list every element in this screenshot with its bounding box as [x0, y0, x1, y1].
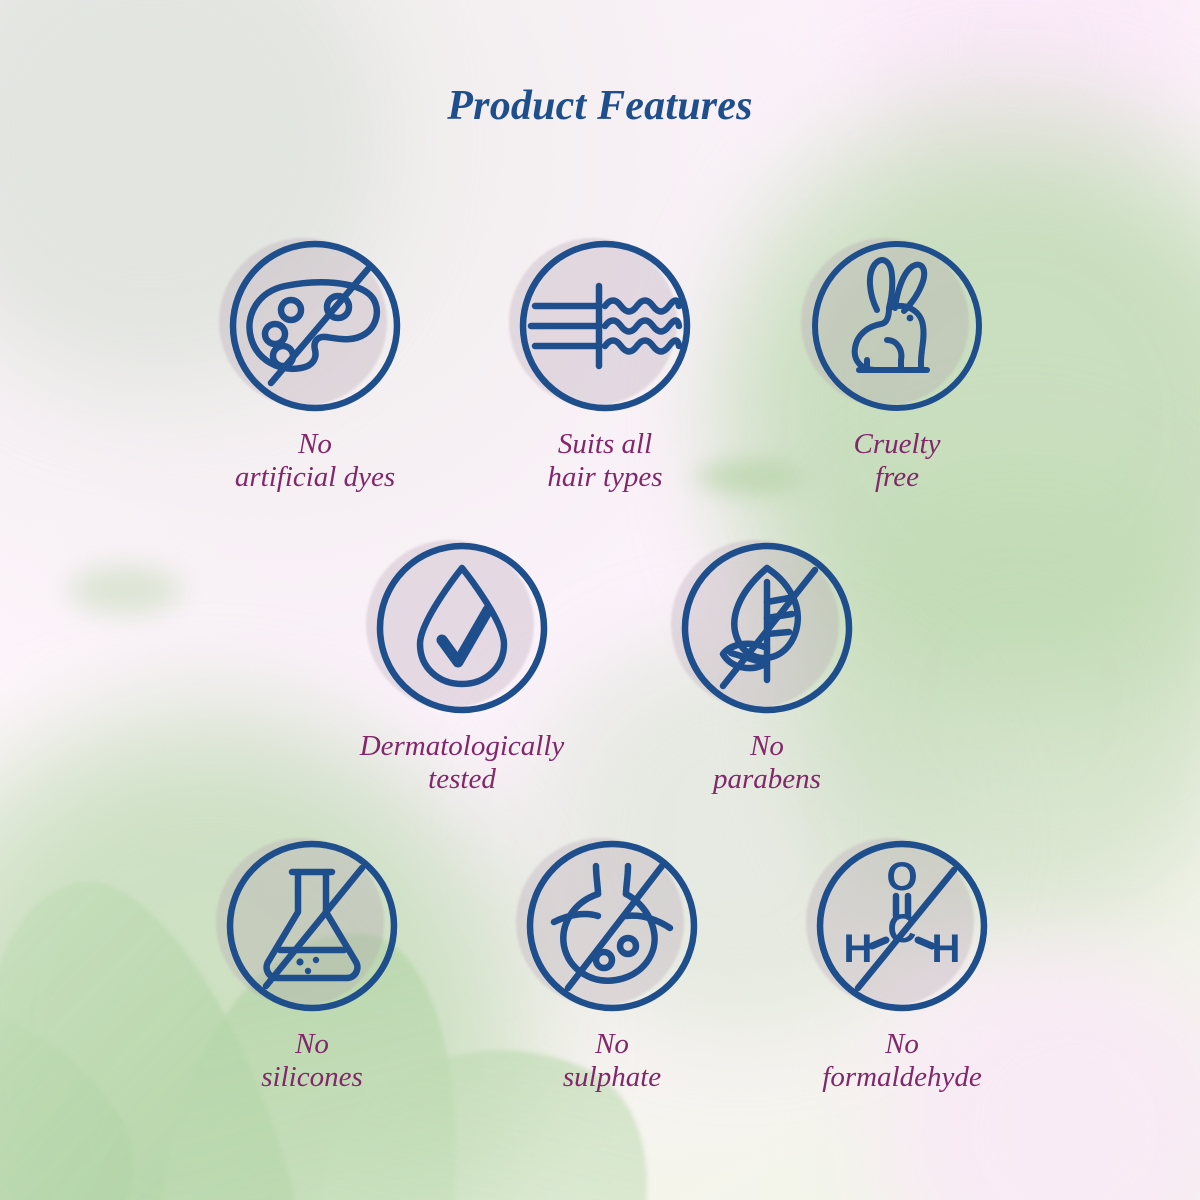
page-title: Product Features — [0, 82, 1200, 130]
erlenmeyer-flask-slash-icon — [224, 838, 400, 1014]
green-speck-left — [60, 560, 190, 620]
icon-badge — [809, 238, 985, 414]
feature-dermatologically-tested[interactable]: Dermatologically tested — [337, 540, 587, 796]
feature-label: Suits all hair types — [480, 428, 730, 494]
hair-strands-icon — [517, 238, 693, 414]
feature-label: No formaldehyde — [777, 1028, 1027, 1094]
feature-cruelty-free[interactable]: Cruelty free — [772, 238, 1022, 494]
icon-badge: O C H H — [814, 838, 990, 1014]
atom-label-hydrogen-left: H — [844, 927, 873, 971]
feature-label: Dermatologically tested — [297, 730, 627, 796]
formaldehyde-molecule-slash-icon: O C H H — [814, 838, 990, 1014]
feature-no-silicones[interactable]: No silicones — [187, 838, 437, 1094]
leaf-slash-icon — [679, 540, 855, 716]
icon-badge — [227, 238, 403, 414]
water-drop-check-icon — [374, 540, 550, 716]
feature-no-artificial-dyes[interactable]: No artificial dyes — [190, 238, 440, 494]
atom-label-oxygen: O — [886, 855, 917, 899]
feature-label: No parabens — [642, 730, 892, 796]
leaf-shape-far-left — [0, 957, 180, 1200]
icon-badge — [524, 838, 700, 1014]
rabbit-icon — [809, 238, 985, 414]
icon-badge — [517, 238, 693, 414]
feature-label: No silicones — [187, 1028, 437, 1094]
product-features-infographic: Product Features No artificial dyes — [0, 0, 1200, 1200]
atom-label-hydrogen-right: H — [932, 927, 961, 971]
feature-no-sulphate[interactable]: No sulphate — [487, 838, 737, 1094]
feature-label: No sulphate — [487, 1028, 737, 1094]
feature-label: No artificial dyes — [190, 428, 440, 494]
palette-slash-icon — [227, 238, 403, 414]
feature-label: Cruelty free — [772, 428, 1022, 494]
feature-no-parabens[interactable]: No parabens — [642, 540, 892, 796]
feature-no-formaldehyde[interactable]: O C H H No formaldehyde — [777, 838, 1027, 1094]
icon-badge — [679, 540, 855, 716]
feature-suits-all-hair-types[interactable]: Suits all hair types — [480, 238, 730, 494]
icon-badge — [224, 838, 400, 1014]
icon-badge — [374, 540, 550, 716]
round-flask-slash-icon — [524, 838, 700, 1014]
